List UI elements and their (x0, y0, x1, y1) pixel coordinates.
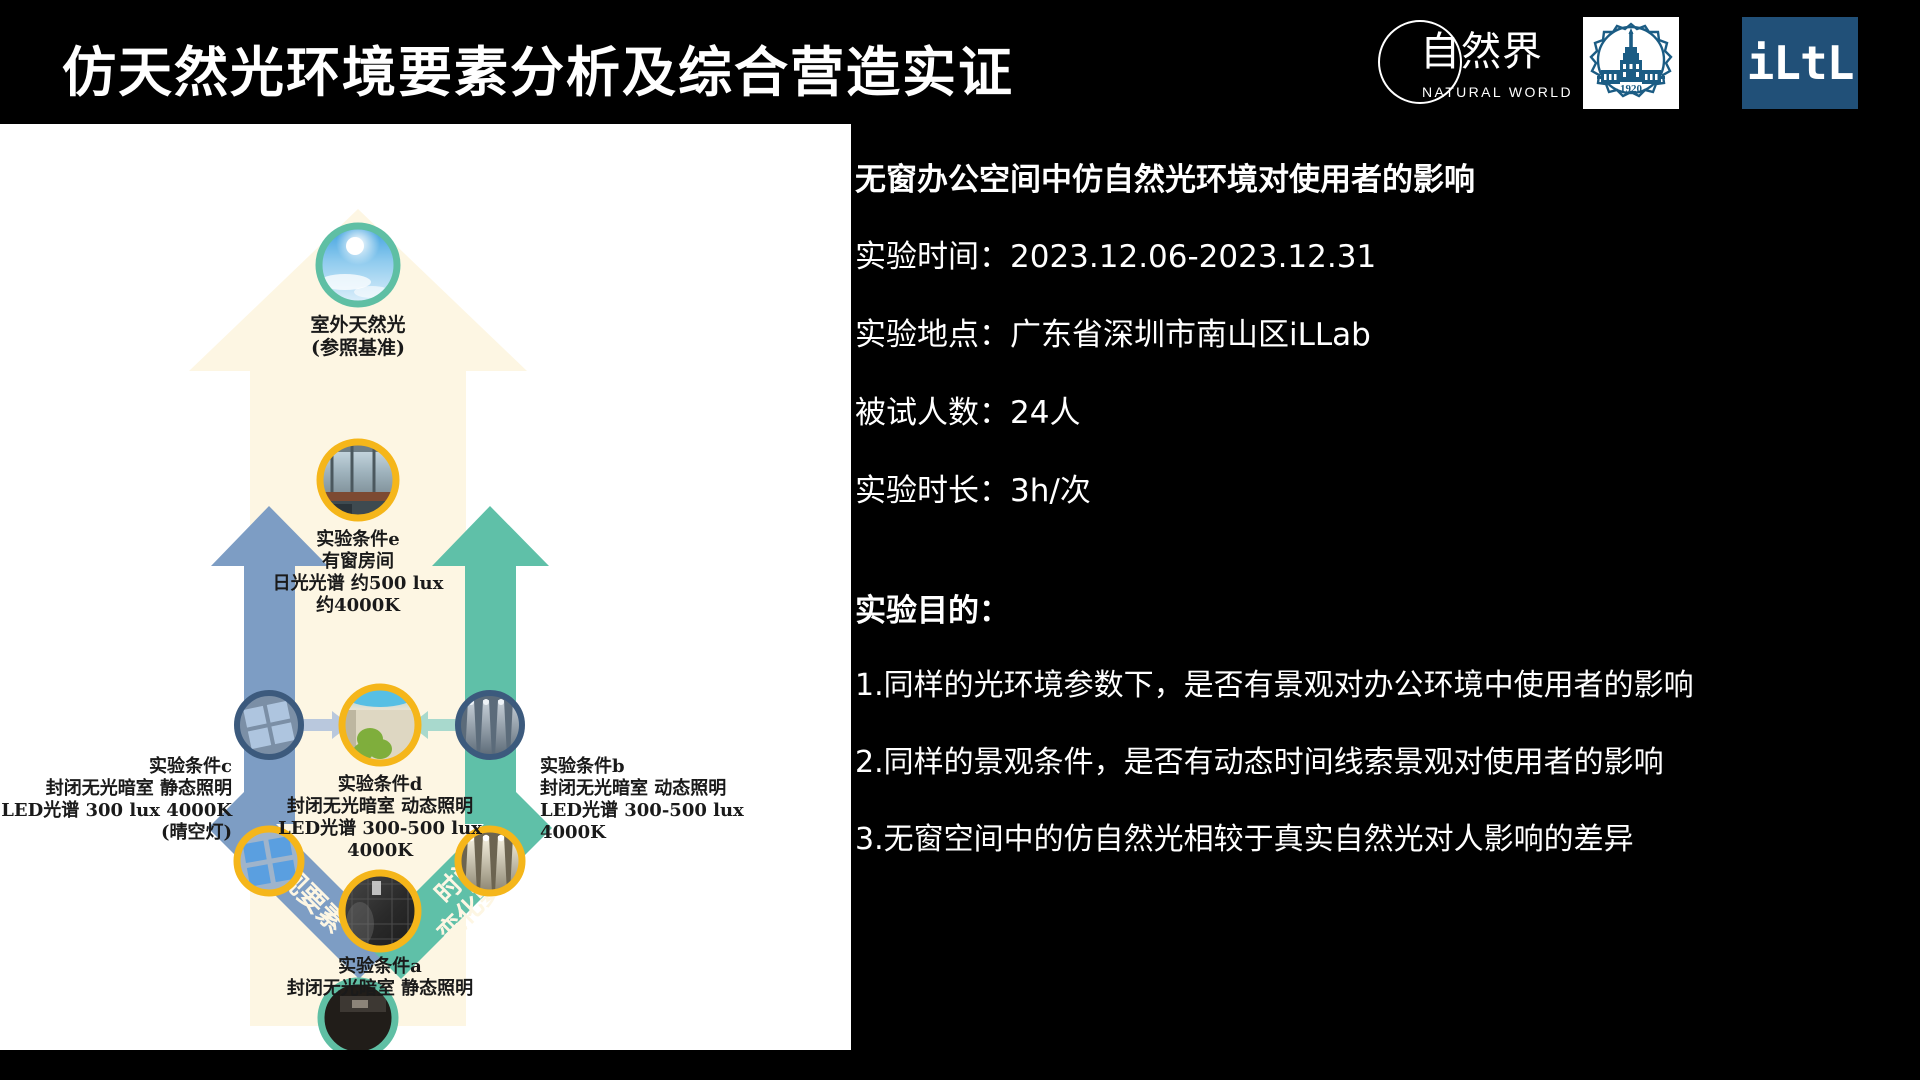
page-title: 仿天然光环境要素分析及综合营造实证 (62, 28, 1014, 107)
hit-university-logo: 1920 (1583, 17, 1679, 109)
purpose-item-3: 3.无窗空间中的仿自然光相较于真实自然光对人影响的差异 (855, 814, 1634, 858)
info-title: 无窗办公空间中仿自然光环境对使用者的影响 (855, 154, 1475, 199)
label-condition-c: 实验条件c 封闭无光暗室 静态照明 LED光谱 300 lux 4000K (晴… (0, 756, 232, 844)
info-column: 无窗办公空间中仿自然光环境对使用者的影响 实验时间：2023.12.06-202… (855, 124, 1920, 1050)
photo-condition-a (340, 871, 420, 951)
label-condition-a: 实验条件a 封闭无光暗室 静态照明 (248, 956, 512, 1000)
info-row-duration: 实验时长：3h/次 (855, 465, 1091, 510)
diagram-panel: 景观要素 时间 变化要素 (0, 124, 851, 1050)
photo-outdoor-light (319, 226, 397, 304)
label-condition-d: 实验条件d 封闭无光暗室 动态照明 LED光谱 300-500 lux 4000… (238, 774, 522, 862)
footer-bar (0, 1050, 1920, 1080)
hit-year-label: 1920 (1620, 83, 1643, 95)
label-condition-b: 实验条件b 封闭无光暗室 动态照明 LED光谱 300-500 lux 4000… (540, 756, 790, 844)
label-condition-e: 实验条件e 有窗房间 日光光谱 约500 lux 约4000K (228, 529, 488, 617)
purpose-title: 实验目的： (855, 585, 1010, 630)
info-row-location: 实验地点：广东省深圳市南山区iLLab (855, 309, 1371, 354)
purpose-item-1: 1.同样的光环境参数下，是否有景观对办公环境中使用者的影响 (855, 660, 1694, 704)
natural-world-logo: 自然界 NATURAL WORLD (1378, 14, 1543, 112)
label-outdoor-light: 室外天然光 (参照基准) (258, 314, 458, 360)
photo-condition-d (340, 685, 420, 765)
natural-world-cn-label: 自然界 (1420, 32, 1543, 72)
info-row-subjects: 被试人数：24人 (855, 387, 1080, 432)
illab-logo: iLtL (1742, 17, 1858, 109)
icon-lamps-dynamic (458, 693, 522, 757)
slide-root: 仿天然光环境要素分析及综合营造实证 自然界 NATURAL WORLD (0, 0, 1920, 1080)
illab-logo-label: iLtL (1747, 40, 1854, 86)
slide-header: 仿天然光环境要素分析及综合营造实证 自然界 NATURAL WORLD (0, 0, 1920, 124)
icon-window-static (237, 693, 301, 757)
purpose-item-2: 2.同样的景观条件，是否有动态时间线索景观对使用者的影响 (855, 737, 1664, 781)
hit-crest-icon: 1920 (1587, 20, 1675, 106)
photo-condition-e (318, 440, 398, 523)
natural-world-en-label: NATURAL WORLD (1422, 84, 1573, 100)
info-row-time: 实验时间：2023.12.06-2023.12.31 (855, 231, 1376, 276)
